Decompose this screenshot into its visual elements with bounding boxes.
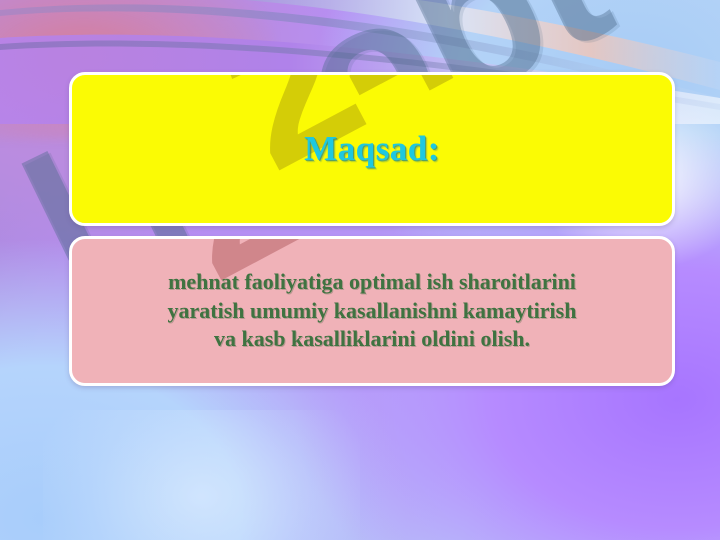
background-glow-bottom [43,410,360,540]
slide-title: Maqsad: [304,129,440,169]
slide-body-text: mehnat faoliyatiga optimal ish sharoitla… [157,268,587,354]
slide-canvas: Hisobt 24 Maqsad: 24 mehnat faoliyatiga … [0,0,720,540]
title-box: 24 Maqsad: [69,72,675,226]
body-box: 24 mehnat faoliyatiga optimal ish sharoi… [69,236,675,386]
